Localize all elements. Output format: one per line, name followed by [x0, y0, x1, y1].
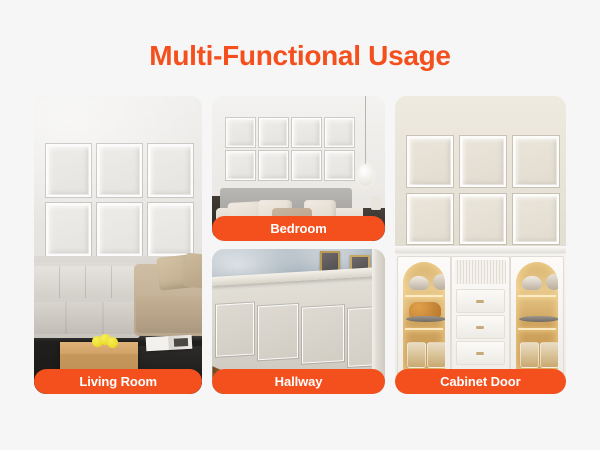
page-title: Multi-Functional Usage [0, 39, 600, 73]
pendant-lamp-icon [358, 164, 373, 186]
cabinet-shelf [405, 328, 443, 330]
cabinet-door-right[interactable] [510, 256, 564, 378]
gallery-column-2: Bedroom Hallway [212, 96, 384, 394]
storage-jar [540, 342, 558, 368]
wall-panel [226, 151, 255, 180]
wall-panel-grid [46, 144, 193, 256]
usage-card-living-room[interactable]: Living Room [34, 96, 202, 394]
bowl [546, 274, 558, 290]
wall-panel [97, 203, 142, 256]
storage-jar [427, 342, 445, 368]
wall-panel [46, 203, 91, 256]
wall-panel [97, 144, 142, 197]
living-room-scene [34, 96, 202, 394]
wall-panel [407, 194, 453, 245]
wall-panel [226, 118, 255, 147]
storage-jar [520, 342, 539, 368]
cabinet-door-scene [395, 96, 566, 394]
usage-card-cabinet-door[interactable]: Cabinet Door [395, 96, 566, 394]
wall-panel [258, 304, 298, 360]
storage-jar [407, 342, 426, 368]
wall-panel [216, 303, 254, 357]
cushion [182, 252, 202, 289]
plate-stack [406, 316, 445, 322]
wall-panel-grid [407, 136, 559, 244]
vase [371, 196, 381, 210]
fluted-panel [455, 260, 506, 284]
wall-panel [292, 151, 321, 180]
open-magazine [146, 335, 193, 351]
pendant-lamp-cord [365, 96, 366, 166]
cabinet-drawer[interactable] [456, 289, 505, 313]
usage-label-bedroom: Bedroom [212, 216, 384, 241]
cabinet-shelf [405, 295, 443, 297]
cabinet-top-surface [395, 246, 566, 252]
usage-gallery: Living Room [34, 96, 566, 394]
gallery-column-3: Cabinet Door [395, 96, 566, 394]
arched-glass-panel [516, 262, 558, 372]
wall-panel [259, 151, 288, 180]
wall-panel [460, 194, 506, 245]
cabinet-drawer[interactable] [456, 315, 505, 339]
plate-stack [519, 316, 558, 322]
cabinet-door-left[interactable] [397, 256, 451, 378]
wall-panel [302, 305, 344, 363]
wall-panel [407, 136, 453, 187]
wall-panel [148, 203, 193, 256]
wall-panel [325, 151, 354, 180]
cabinet-drawer-stack [451, 256, 510, 378]
wall-panel [292, 118, 321, 147]
usage-label-living-room: Living Room [34, 369, 202, 394]
usage-card-bedroom[interactable]: Bedroom [212, 96, 384, 241]
lemon-icon [107, 337, 118, 348]
cabinet-shelf [518, 328, 556, 330]
bowl [409, 276, 429, 290]
cabinet-shelf [518, 295, 556, 297]
cabinet-drawer[interactable] [456, 341, 505, 365]
usage-label-hallway: Hallway [212, 369, 384, 394]
wall-panel [513, 194, 559, 245]
bowl [522, 276, 542, 290]
lemon-bowl [92, 334, 118, 347]
wall-panel [513, 136, 559, 187]
arched-glass-panel [403, 262, 445, 372]
wall-panel [46, 144, 91, 197]
bowl [433, 274, 445, 290]
wall-panel [460, 136, 506, 187]
usage-card-hallway[interactable]: Hallway [212, 249, 384, 394]
usage-label-cabinet-door: Cabinet Door [395, 369, 566, 394]
gallery-column-1: Living Room [34, 96, 202, 394]
gray-sofa [34, 262, 140, 338]
wall-panel [259, 118, 288, 147]
wall-panel [325, 118, 354, 147]
wall-panel [148, 144, 193, 197]
wall-panel-grid [226, 118, 354, 180]
